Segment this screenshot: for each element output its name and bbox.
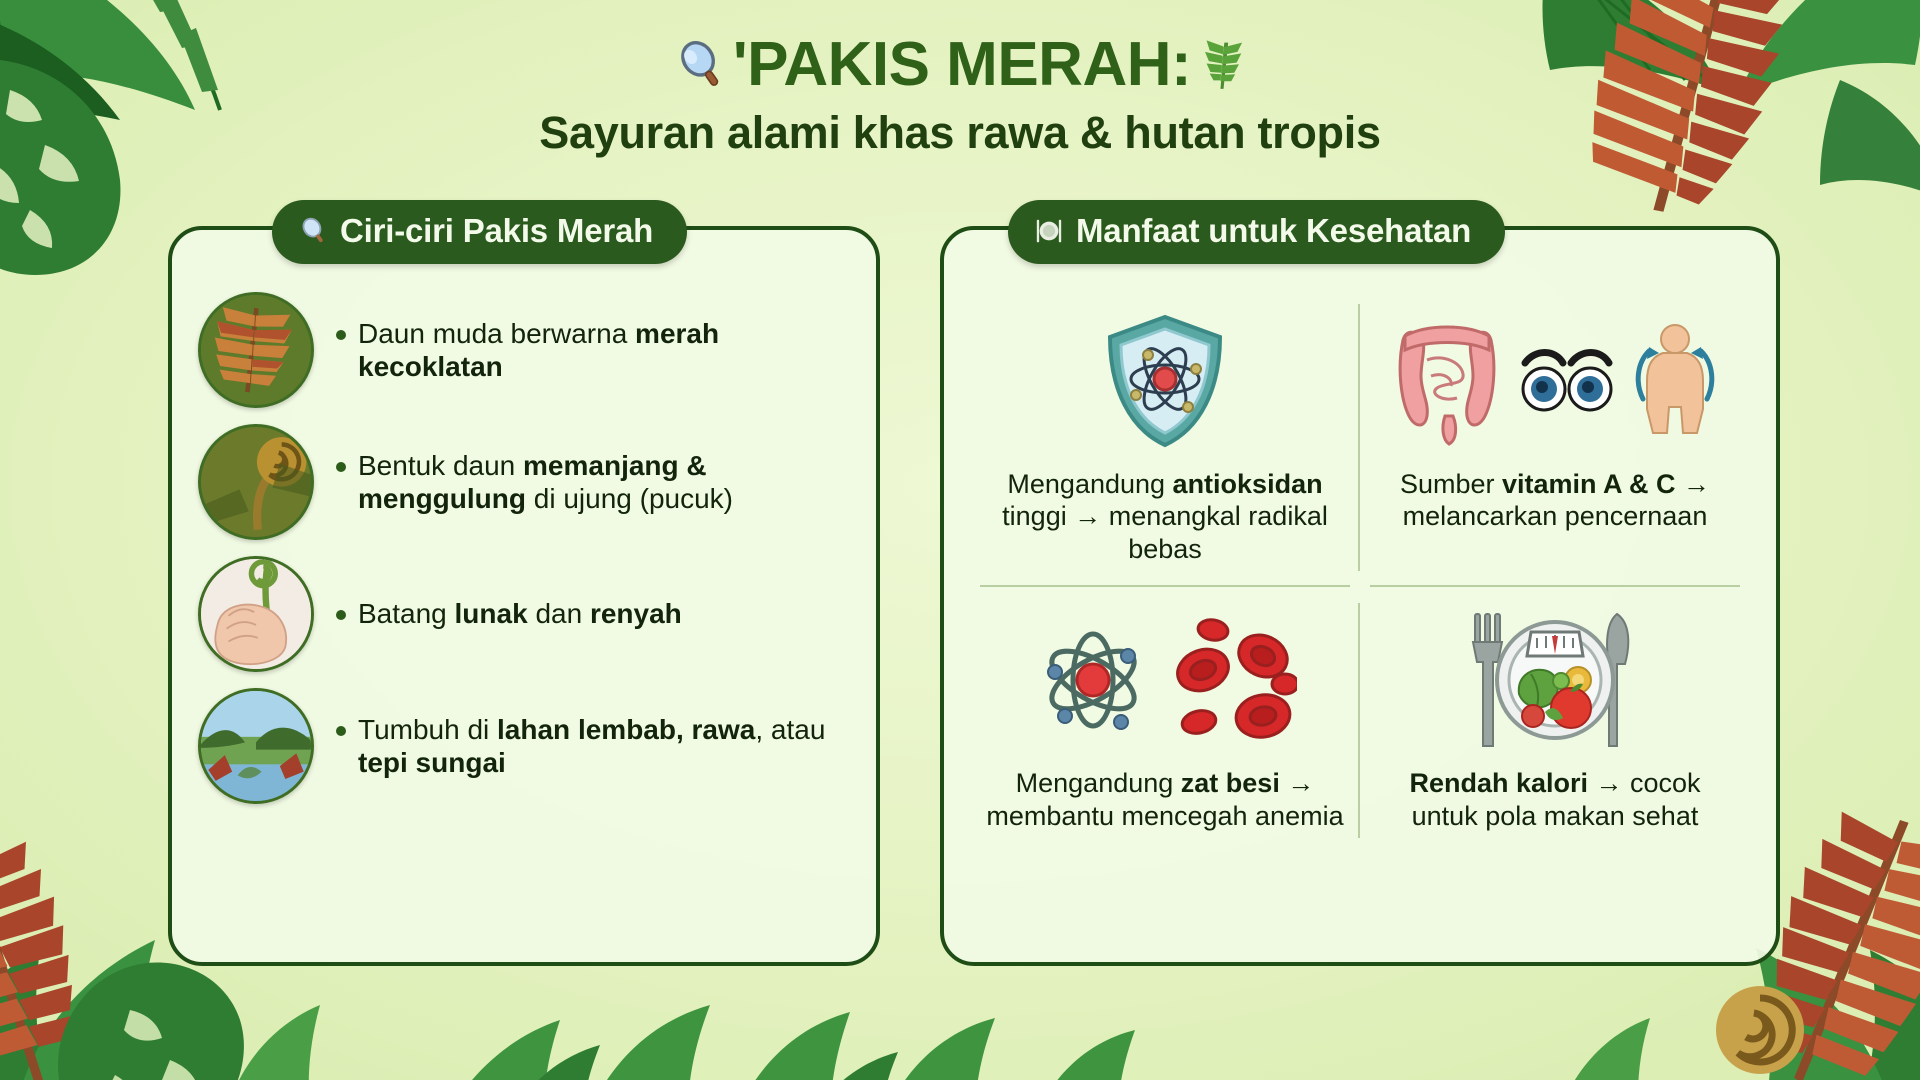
ciri-2-text-c: di ujung (pucuk) — [526, 483, 733, 514]
benefit-4-text-b: Rendah kalori — [1409, 768, 1588, 798]
benefit-1-text-a: Mengandung — [1007, 469, 1172, 499]
title-block: 'PAKIS MERAH: Sayuran — [58, 32, 1862, 159]
list-item-text: Batang lunak dan renyah — [332, 597, 682, 630]
list-item-text: Daun muda berwarna merah kecoklatan — [332, 317, 850, 383]
benefit-vitamin-ac-text: Sumber vitamin A & C → melancarkan pence… — [1374, 468, 1736, 533]
panel-manfaat: Manfaat untuk Kesehatan — [940, 226, 1780, 966]
swamp-riverbank-photo — [198, 688, 314, 804]
page-title: 'PAKIS MERAH: — [673, 32, 1247, 97]
benefit-2-text-a: Sumber — [1400, 469, 1502, 499]
page-subtitle: Sayuran alami khas rawa & hutan tropis — [58, 107, 1862, 159]
benefit-2-text-b: vitamin A & C — [1502, 469, 1676, 499]
intestines-icon — [1387, 316, 1507, 446]
list-item-text: Tumbuh di lahan lembab, rawa, atau tepi … — [332, 713, 850, 779]
benefit-3-text-b: zat besi — [1181, 768, 1280, 798]
red-blood-cells-icon — [1167, 618, 1297, 743]
benefit-zat-besi: Mengandung zat besi → membantu mencegah … — [970, 587, 1360, 854]
list-item: Tumbuh di lahan lembab, rawa, atau tepi … — [198, 688, 850, 804]
benefit-rendah-kalori-icons — [1374, 605, 1736, 755]
panel-ciri-ciri: Ciri-ciri Pakis Merah — [168, 226, 880, 966]
benefit-zat-besi-text: Mengandung zat besi → membantu mencegah … — [984, 767, 1346, 832]
ciri-4-text-b: lahan lembab, rawa — [497, 714, 755, 745]
red-fern-frond-photo — [198, 292, 314, 408]
page-title-text: 'PAKIS MERAH: — [733, 32, 1191, 97]
ciri-4-text-d: tepi sungai — [358, 747, 506, 778]
panel-manfaat-header: Manfaat untuk Kesehatan — [1008, 200, 1505, 264]
ciri-3-text-a: Batang — [358, 598, 455, 629]
benefit-1-text-c: tinggi → menangkal radikal bebas — [1002, 501, 1328, 563]
benefit-1-text-b: antioksidan — [1173, 469, 1323, 499]
panel-ciri-ciri-header: Ciri-ciri Pakis Merah — [272, 200, 687, 264]
ciri-1-text-a: Daun muda berwarna — [358, 318, 635, 349]
ciri-4-text-c: , atau — [755, 714, 825, 745]
benefit-vitamin-ac: Sumber vitamin A & C → melancarkan pence… — [1360, 288, 1750, 587]
list-item: Bentuk daun memanjang & menggulung di uj… — [198, 424, 850, 540]
benefit-rendah-kalori-text: Rendah kalori → cocok untuk pola makan s… — [1374, 767, 1736, 832]
list-item: Batang lunak dan renyah — [198, 556, 850, 672]
panel-manfaat-header-text: Manfaat untuk Kesehatan — [1076, 212, 1471, 250]
healthy-plate-scale-icon — [1465, 608, 1645, 753]
benefit-antioksidan: Mengandung antioksidan tinggi → menangka… — [970, 288, 1360, 587]
human-body-icon — [1627, 321, 1723, 441]
benefit-zat-besi-icons — [984, 605, 1346, 755]
magnifying-glass-icon — [673, 38, 727, 92]
benefit-vitamin-ac-icons — [1374, 306, 1736, 456]
ciri-4-text-a: Tumbuh di — [358, 714, 497, 745]
ciri-3-text-c: dan — [528, 598, 590, 629]
shield-atom-icon — [1100, 311, 1230, 451]
ciri-2-text-a: Bentuk daun — [358, 450, 523, 481]
ciri-3-text-b: lunak — [455, 598, 528, 629]
panels-container: Ciri-ciri Pakis Merah — [168, 226, 1780, 966]
benefit-3-text-a: Mengandung — [1016, 768, 1181, 798]
plate-with-cutlery-icon — [1034, 216, 1064, 246]
list-item-text: Bentuk daun memanjang & menggulung di uj… — [332, 449, 850, 515]
curled-fern-shoot-photo — [198, 424, 314, 540]
benefit-rendah-kalori: Rendah kalori → cocok untuk pola makan s… — [1360, 587, 1750, 854]
list-item: Daun muda berwarna merah kecoklatan — [198, 292, 850, 408]
panel-ciri-ciri-header-text: Ciri-ciri Pakis Merah — [340, 212, 653, 250]
benefit-antioksidan-text: Mengandung antioksidan tinggi → menangka… — [984, 468, 1346, 565]
fern-icon — [1197, 38, 1247, 92]
ciri-ciri-list: Daun muda berwarna merah kecoklatan — [198, 282, 850, 804]
eyes-icon — [1521, 341, 1613, 421]
benefit-antioksidan-icons — [984, 306, 1346, 456]
ciri-3-text-d: renyah — [590, 598, 682, 629]
infographic-content: 'PAKIS MERAH: Sayuran — [58, 14, 1862, 1014]
atom-icon — [1033, 620, 1153, 740]
manfaat-grid: Mengandung antioksidan tinggi → menangka… — [970, 282, 1750, 854]
magnifying-glass-icon — [298, 216, 328, 246]
hand-holding-stem-photo — [198, 556, 314, 672]
